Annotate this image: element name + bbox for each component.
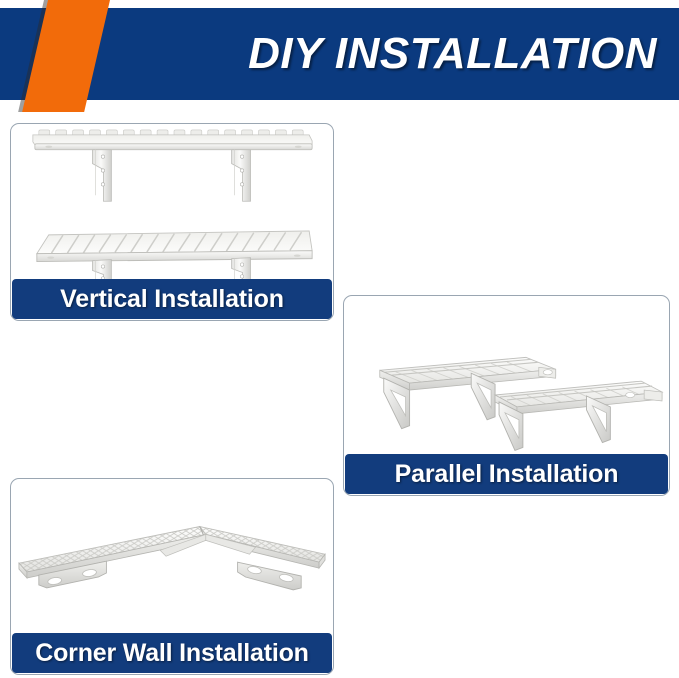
panel-parallel-installation: Parallel Installation (343, 295, 670, 496)
page-title: DIY INSTALLATION (0, 8, 679, 100)
shelf-right (495, 381, 662, 450)
bracket-upper-right (232, 150, 251, 201)
panel-vertical-label: Vertical Installation (12, 279, 332, 319)
panel-corner-installation: Corner Wall Installation (10, 478, 334, 675)
bracket-upper-left (92, 150, 111, 201)
header-banner: DIY INSTALLATION (0, 8, 679, 100)
panel-parallel-label: Parallel Installation (345, 454, 668, 494)
corner-deck-left (19, 527, 206, 578)
panel-vertical-installation: Vertical Installation (10, 123, 334, 321)
lower-shelf (37, 231, 312, 262)
corner-deck-right (200, 527, 325, 569)
corner-bracket-right (238, 562, 302, 590)
panel-corner-label: Corner Wall Installation (12, 633, 332, 673)
upper-shelf (33, 130, 312, 150)
